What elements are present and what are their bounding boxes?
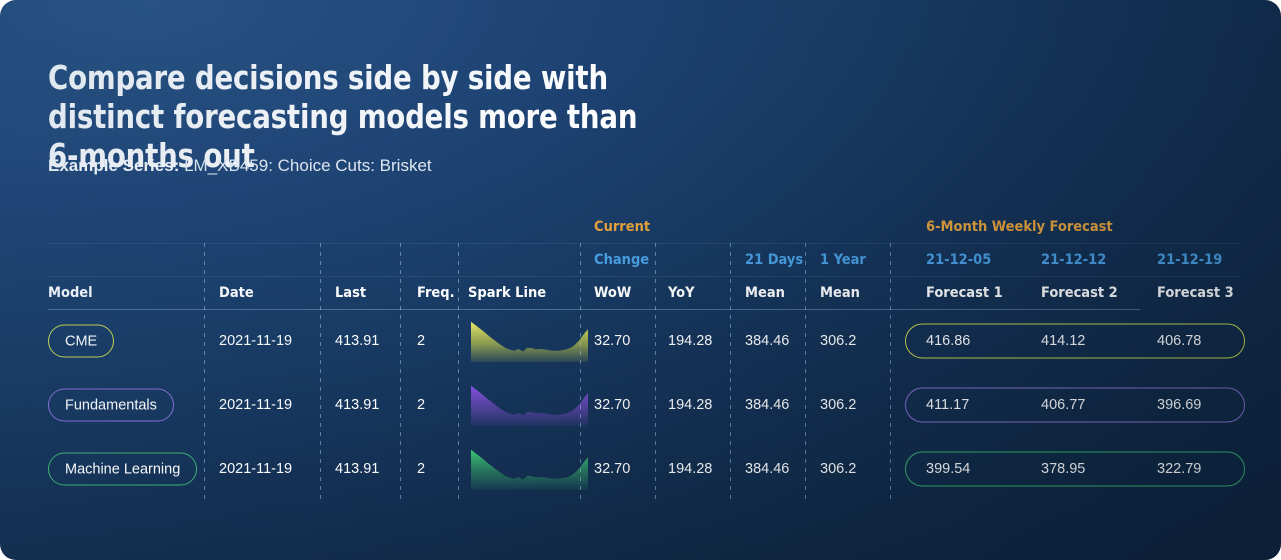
- cell-date: 2021-11-19: [219, 333, 292, 349]
- sub-header-6: 21-12-19: [1157, 252, 1222, 268]
- cell-yoy: 194.28: [668, 397, 712, 413]
- example-series-value: LM_XB459: Choice Cuts: Brisket: [179, 156, 431, 175]
- cell-forecast-1: 411.17: [926, 397, 969, 413]
- column-divider-5: [580, 243, 581, 501]
- column-header-freq: Freq.: [417, 285, 455, 301]
- group-header-2: 6-Month Weekly Forecast: [926, 219, 1113, 235]
- cell-mean-21-days: 384.46: [745, 397, 789, 413]
- cell-yoy: 194.28: [668, 333, 712, 349]
- cell-yoy: 194.28: [668, 461, 712, 477]
- cell-mean-21-days: 384.46: [745, 461, 789, 477]
- column-header-yoy: YoY: [668, 285, 695, 301]
- cell-forecast-1: 416.86: [926, 333, 970, 349]
- cell-last: 413.91: [335, 397, 379, 413]
- model-pill-cme[interactable]: CME: [48, 325, 114, 358]
- cell-mean-1-year: 306.2: [820, 333, 856, 349]
- cell-wow: 32.70: [594, 397, 630, 413]
- sub-header-1: Change: [594, 252, 649, 268]
- cell-forecast-3: 396.69: [1157, 397, 1201, 413]
- cell-date: 2021-11-19: [219, 461, 292, 477]
- dashboard-card: Compare decisions side by side with dist…: [0, 0, 1281, 560]
- sparkline-chart: [471, 320, 588, 362]
- cell-forecast-2: 414.12: [1041, 333, 1085, 349]
- column-header-forecast-3: Forecast 3: [1157, 285, 1234, 301]
- example-series-line: Example Series: LM_XB459: Choice Cuts: B…: [48, 156, 432, 176]
- cell-last: 413.91: [335, 333, 379, 349]
- cell-mean-21-days: 384.46: [745, 333, 789, 349]
- table-sub-header-row: Change21 Days1 Year21-12-0521-12-1221-12…: [48, 243, 1245, 276]
- model-pill-machine-learning[interactable]: Machine Learning: [48, 453, 197, 486]
- column-divider-1: [204, 243, 205, 501]
- column-header-forecast-2: Forecast 2: [1041, 285, 1118, 301]
- cell-wow: 32.70: [594, 461, 630, 477]
- table-row: CME2021-11-19413.91232.70194.28384.46306…: [48, 309, 1245, 373]
- cell-last: 413.91: [335, 461, 379, 477]
- column-divider-2: [320, 243, 321, 501]
- column-header-date: Date: [219, 285, 254, 301]
- column-divider-3: [400, 243, 401, 501]
- sub-header-4: 21-12-05: [926, 252, 991, 268]
- cell-forecast-1: 399.54: [926, 461, 970, 477]
- cell-mean-1-year: 306.2: [820, 397, 856, 413]
- header-underline: [48, 309, 1140, 310]
- forecast-table: Current6-Month Weekly Forecast Change21 …: [48, 210, 1245, 501]
- sub-header-2: 21 Days: [745, 252, 803, 268]
- group-header-underline: [48, 243, 1240, 244]
- cell-forecast-3: 406.78: [1157, 333, 1201, 349]
- column-divider-7: [730, 243, 731, 501]
- table-body: CME2021-11-19413.91232.70194.28384.46306…: [48, 309, 1245, 501]
- column-header-wow: WoW: [594, 285, 631, 301]
- table-group-header-row: Current6-Month Weekly Forecast: [48, 210, 1245, 243]
- sub-header-5: 21-12-12: [1041, 252, 1106, 268]
- cell-mean-1-year: 306.2: [820, 461, 856, 477]
- column-header-forecast-1: Forecast 1: [926, 285, 1003, 301]
- sub-header-underline: [48, 276, 1240, 277]
- cell-freq: 2: [417, 333, 425, 349]
- cell-freq: 2: [417, 397, 425, 413]
- column-header-mean: Mean: [820, 285, 860, 301]
- column-divider-9: [890, 243, 891, 501]
- group-header-1: Current: [594, 219, 650, 235]
- cell-forecast-3: 322.79: [1157, 461, 1201, 477]
- model-pill-fundamentals[interactable]: Fundamentals: [48, 389, 174, 422]
- table-row: Machine Learning2021-11-19413.91232.7019…: [48, 437, 1245, 501]
- column-divider-6: [655, 243, 656, 501]
- cell-forecast-2: 406.77: [1041, 397, 1085, 413]
- cell-forecast-2: 378.95: [1041, 461, 1085, 477]
- sparkline-chart: [471, 384, 588, 426]
- column-header-last: Last: [335, 285, 366, 301]
- example-series-label: Example Series:: [48, 156, 179, 175]
- column-divider-8: [805, 243, 806, 501]
- sparkline-chart: [471, 448, 588, 490]
- table-column-header-row: ModelDateLastFreq.Spark LineWoWYoYMeanMe…: [48, 276, 1245, 309]
- cell-freq: 2: [417, 461, 425, 477]
- column-header-model: Model: [48, 285, 93, 301]
- column-divider-4: [458, 243, 459, 501]
- sub-header-3: 1 Year: [820, 252, 866, 268]
- cell-date: 2021-11-19: [219, 397, 292, 413]
- cell-wow: 32.70: [594, 333, 630, 349]
- column-header-spark-line: Spark Line: [468, 285, 546, 301]
- column-header-mean: Mean: [745, 285, 785, 301]
- table-row: Fundamentals2021-11-19413.91232.70194.28…: [48, 373, 1245, 437]
